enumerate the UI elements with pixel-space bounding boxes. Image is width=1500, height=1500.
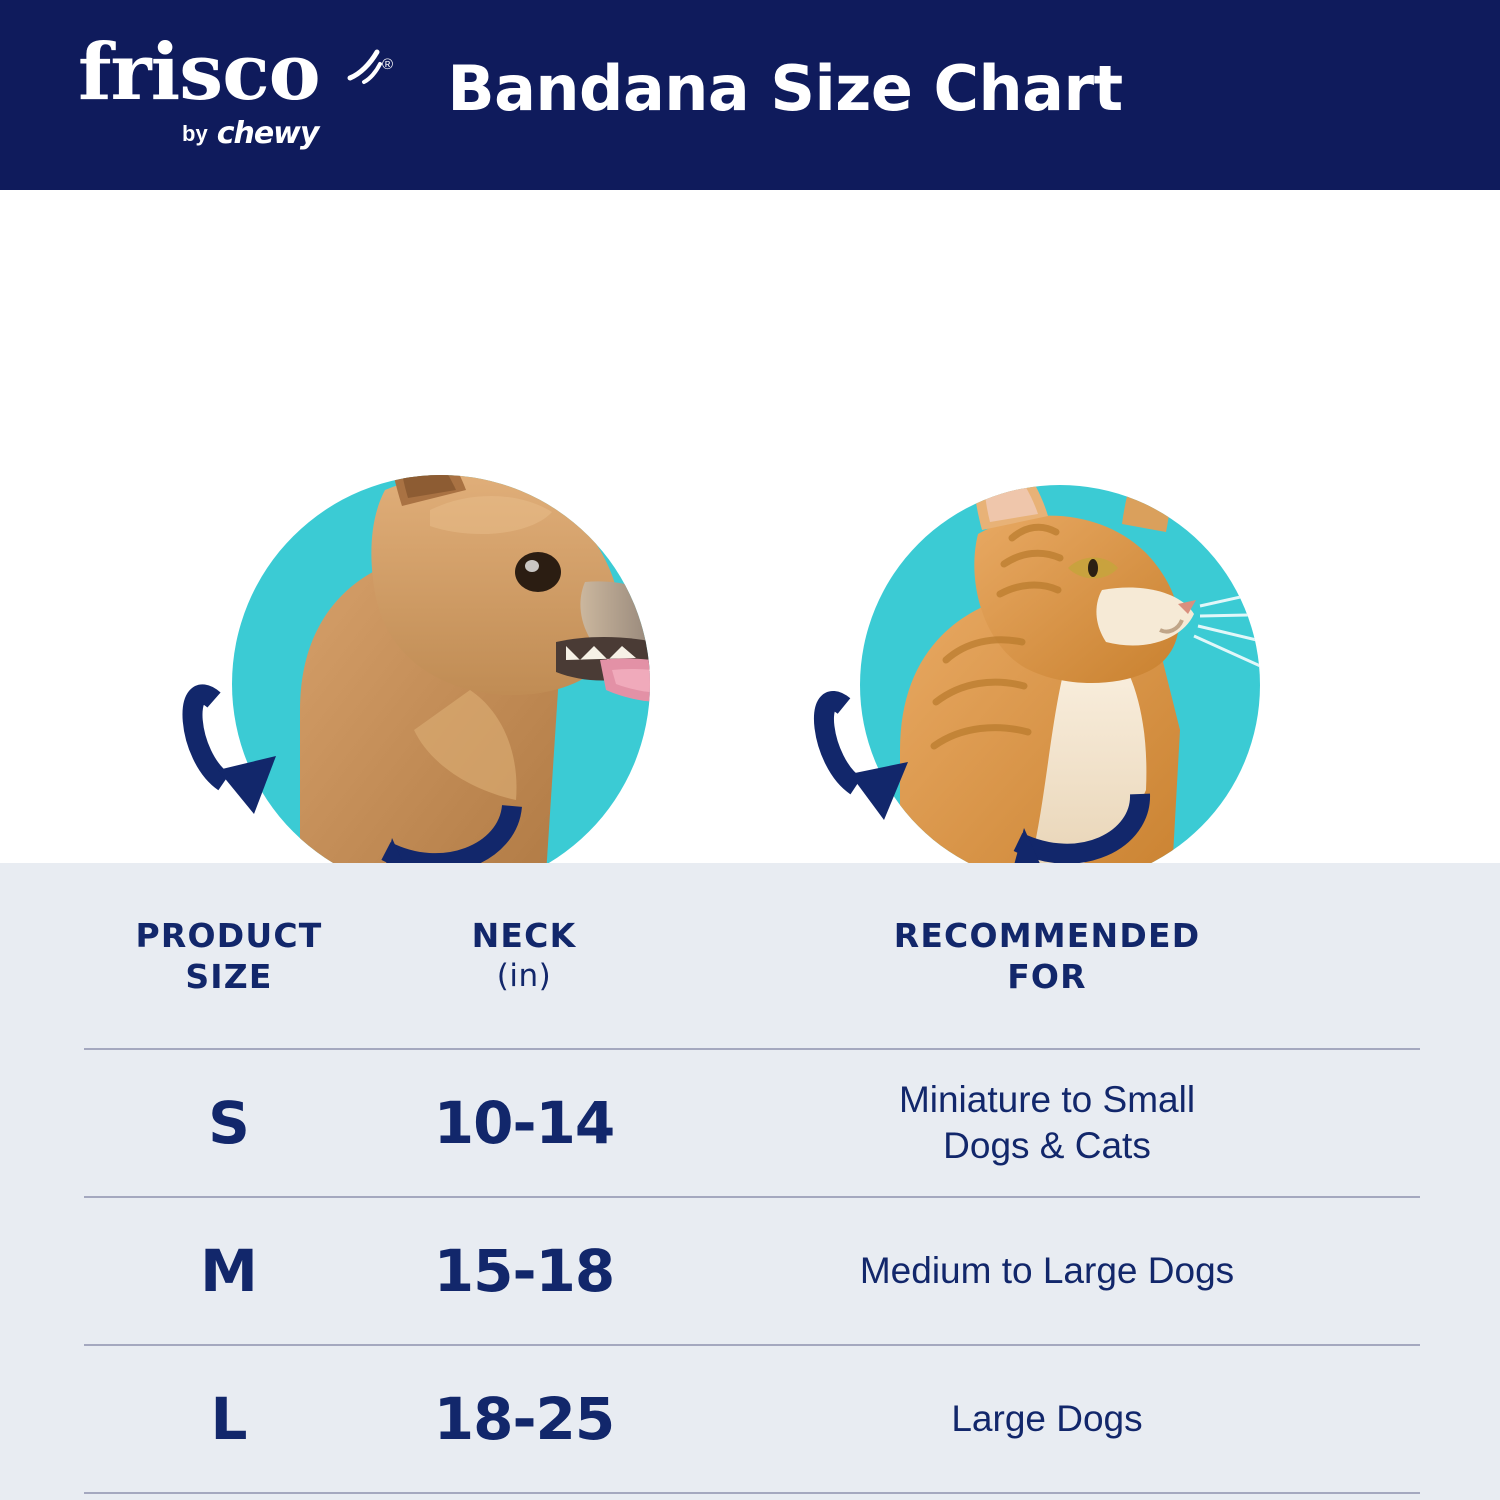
- size-chart-page: frisco ® by chewy Bandana Size Chart: [0, 0, 1500, 1500]
- column-header-recommended-line1: RECOMMENDED: [894, 916, 1201, 955]
- table-divider: [84, 1492, 1420, 1494]
- dog-illustration-cell: NECK: [0, 190, 750, 863]
- column-header-product-size: PRODUCT SIZE: [84, 915, 374, 997]
- row-size-value: S: [84, 1089, 374, 1157]
- table-divider: [84, 1196, 1420, 1198]
- row-neck-value: 15-18: [374, 1237, 674, 1305]
- row-neck-value: 10-14: [374, 1089, 674, 1157]
- size-table: PRODUCT SIZE NECK (in) RECOMMENDED FOR S…: [84, 863, 1420, 1494]
- size-table-section: PRODUCT SIZE NECK (in) RECOMMENDED FOR S…: [0, 863, 1500, 1500]
- table-header-row: PRODUCT SIZE NECK (in) RECOMMENDED FOR: [84, 863, 1420, 1048]
- table-divider: [84, 1344, 1420, 1346]
- table-row: S 10-14 Miniature to Small Dogs & Cats: [84, 1050, 1420, 1196]
- cat-arrowhead-upper: [850, 762, 908, 820]
- row-recommended-value: Large Dogs: [674, 1396, 1420, 1442]
- row-recommended-value: Miniature to Small Dogs & Cats: [674, 1077, 1420, 1169]
- row-recommended-line1: Medium to Large Dogs: [860, 1250, 1234, 1291]
- row-neck-value: 18-25: [374, 1385, 674, 1453]
- row-recommended-line1: Miniature to Small: [899, 1079, 1195, 1120]
- illustration-row: NECK: [0, 190, 1500, 863]
- page-title: Bandana Size Chart: [0, 52, 1500, 125]
- cat-neck-measure-arrows: [750, 190, 1500, 863]
- cat-illustration-cell: NECK: [750, 190, 1500, 863]
- column-header-neck: NECK (in): [374, 915, 674, 997]
- column-header-recommended-for: RECOMMENDED FOR: [674, 915, 1420, 997]
- row-recommended-line1: Large Dogs: [951, 1398, 1142, 1439]
- column-header-recommended-line2: FOR: [1007, 957, 1087, 996]
- table-row: M 15-18 Medium to Large Dogs: [84, 1198, 1420, 1344]
- column-header-neck-unit: (in): [374, 956, 674, 997]
- row-recommended-value: Medium to Large Dogs: [674, 1248, 1420, 1294]
- table-divider: [84, 1048, 1420, 1050]
- column-header-product-size-line2: SIZE: [185, 957, 272, 996]
- row-size-value: M: [84, 1237, 374, 1305]
- table-row: L 18-25 Large Dogs: [84, 1346, 1420, 1492]
- column-header-neck-line1: NECK: [472, 916, 577, 955]
- dog-neck-measure-arrows: [0, 190, 750, 863]
- column-header-product-size-line1: PRODUCT: [136, 916, 323, 955]
- dog-arrowhead-upper: [218, 756, 276, 814]
- page-header: frisco ® by chewy Bandana Size Chart: [0, 0, 1500, 190]
- row-size-value: L: [84, 1385, 374, 1453]
- row-recommended-line2: Dogs & Cats: [943, 1125, 1151, 1166]
